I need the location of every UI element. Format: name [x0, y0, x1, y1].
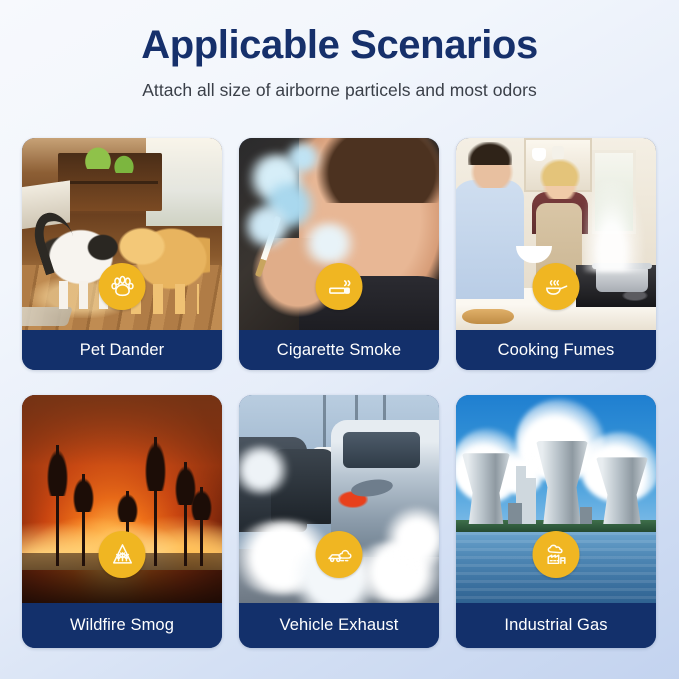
scenario-label-industrial-gas: Industrial Gas: [456, 603, 656, 648]
steaming-pan-icon: [533, 263, 580, 310]
page-title: Applicable Scenarios: [0, 22, 679, 68]
scenario-photo-cigarette-smoke: [239, 138, 439, 330]
scenario-card-vehicle-exhaust[interactable]: Vehicle Exhaust: [239, 395, 439, 648]
scenario-label-cooking-fumes: Cooking Fumes: [456, 330, 656, 370]
scenario-label-vehicle-exhaust: Vehicle Exhaust: [239, 603, 439, 648]
page-subtitle: Attach all size of airborne particels an…: [0, 80, 679, 101]
burning-forest-icon: [99, 531, 146, 578]
scenario-card-cooking-fumes[interactable]: Cooking Fumes: [456, 138, 656, 370]
applicable-scenarios-page: Applicable Scenarios Attach all size of …: [0, 0, 679, 679]
scenario-photo-wildfire-smog: [22, 395, 222, 603]
scenario-label-pet-dander: Pet Dander: [22, 330, 222, 370]
scenario-photo-vehicle-exhaust: [239, 395, 439, 603]
scenario-card-cigarette-smoke[interactable]: Cigarette Smoke: [239, 138, 439, 370]
car-exhaust-icon: [316, 531, 363, 578]
scenario-label-cigarette-smoke: Cigarette Smoke: [239, 330, 439, 370]
page-header: Applicable Scenarios Attach all size of …: [0, 22, 679, 101]
scenario-card-pet-dander[interactable]: Pet Dander: [22, 138, 222, 370]
scenario-grid: Pet Dander: [22, 138, 657, 648]
scenario-card-industrial-gas[interactable]: Industrial Gas: [456, 395, 656, 648]
scenario-photo-industrial-gas: [456, 395, 656, 603]
scenario-label-wildfire-smog: Wildfire Smog: [22, 603, 222, 648]
scenario-card-wildfire-smog[interactable]: Wildfire Smog: [22, 395, 222, 648]
scenario-photo-pet-dander: [22, 138, 222, 330]
cigarette-icon: [316, 263, 363, 310]
paw-print-icon: [99, 263, 146, 310]
factory-smokestack-icon: [533, 531, 580, 578]
scenario-photo-cooking-fumes: [456, 138, 656, 330]
